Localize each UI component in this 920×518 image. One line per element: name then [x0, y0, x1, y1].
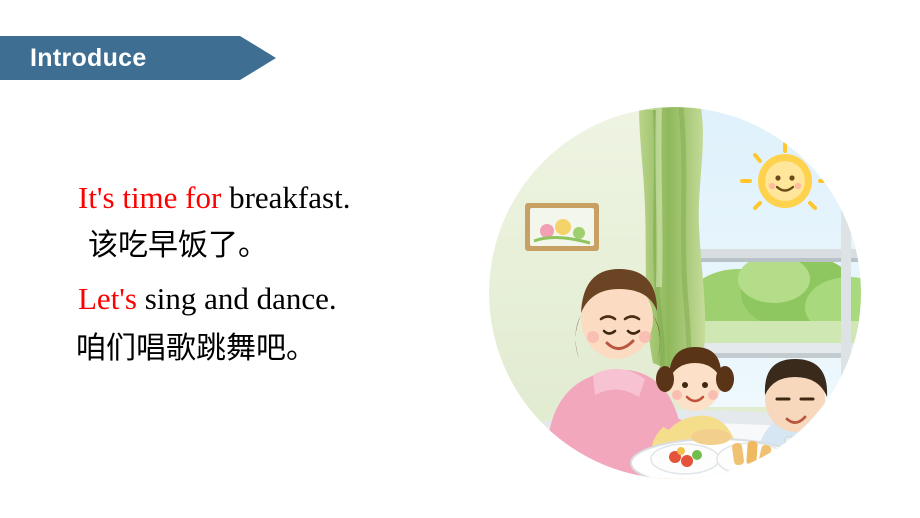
sentence-line-1-highlight: It's time for [78, 180, 221, 215]
sentence-line-3-rest: sing and dance. [137, 281, 337, 316]
sentence-line-1: It's time for breakfast. [78, 182, 498, 213]
sentence-line-4-text: 咱们唱歌跳舞吧。 [76, 332, 316, 365]
banner-arrow-shape [240, 36, 276, 80]
sentence-line-4: 咱们唱歌跳舞吧。 [76, 334, 498, 364]
sentence-line-3: Let's sing and dance. [78, 283, 498, 314]
banner-title: Introduce [30, 36, 147, 80]
text-block: It's time for breakfast. 该吃早饭了。 Let's si… [78, 182, 498, 364]
slide: Introduce It's time for breakfast. 该吃早饭了… [0, 0, 920, 518]
sentence-line-1-rest: breakfast. [221, 180, 350, 215]
sentence-line-2-text: 该吃早饭了。 [88, 229, 268, 262]
sentence-line-3-highlight: Let's [78, 281, 137, 316]
section-banner: Introduce [0, 36, 280, 80]
family-breakfast-illustration [489, 107, 861, 479]
sentence-line-2: 该吃早饭了。 [88, 231, 498, 261]
